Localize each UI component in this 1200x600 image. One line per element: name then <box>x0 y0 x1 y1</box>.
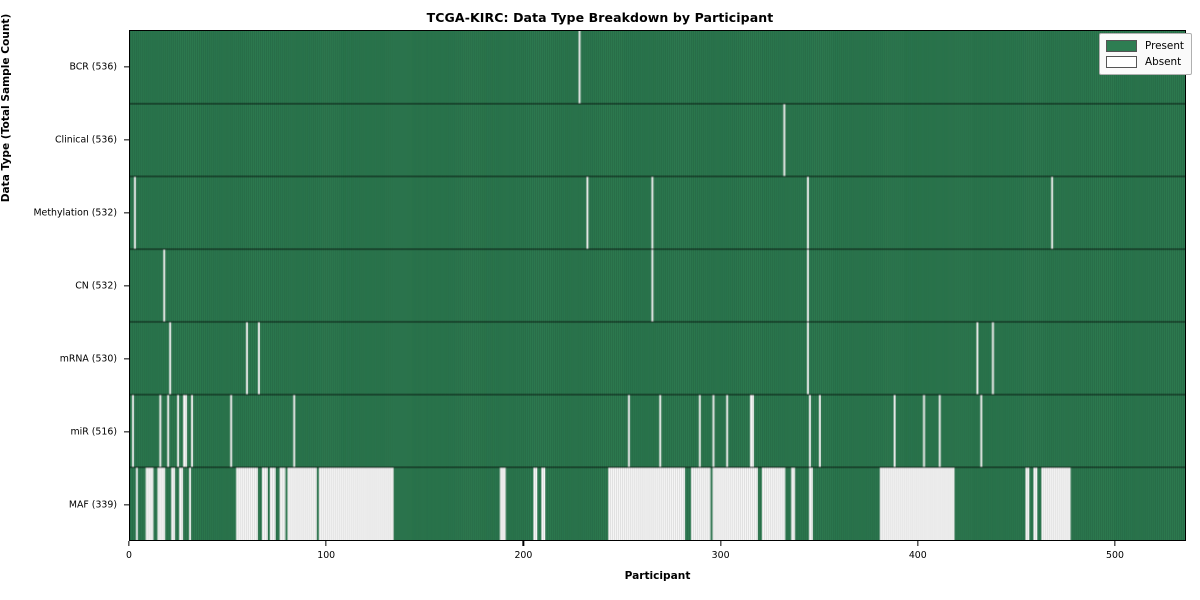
x-tick-label-400: 400 <box>909 550 927 561</box>
x-tick-label-100: 100 <box>317 550 335 561</box>
chart-figure: TCGA-KIRC: Data Type Breakdown by Partic… <box>0 0 1200 600</box>
x-tick-label-0: 0 <box>126 550 132 561</box>
y-tick-label-clinical: Clinical (536) <box>55 134 117 145</box>
legend-label-absent: Absent <box>1145 56 1181 68</box>
y-tick-label-bcr: BCR (536) <box>69 61 117 72</box>
page-title: TCGA-KIRC: Data Type Breakdown by Partic… <box>0 10 1200 25</box>
legend[interactable]: Present Absent <box>1099 33 1192 75</box>
y-tick-label-maf: MAF (339) <box>69 499 117 510</box>
y-tick-label-methylation: Methylation (532) <box>33 207 117 218</box>
x-tick-label-200: 200 <box>514 550 532 561</box>
heatmap-plot-area[interactable] <box>129 30 1186 541</box>
x-tick-mark <box>1114 541 1115 546</box>
legend-swatch-present <box>1106 40 1137 52</box>
x-tick-mark <box>523 541 524 546</box>
heatmap-canvas <box>130 31 1185 540</box>
x-axis-title: Participant <box>129 570 1186 582</box>
legend-label-present: Present <box>1145 40 1184 52</box>
y-tick-label-mrna: mRNA (530) <box>60 353 117 364</box>
x-tick-mark <box>917 541 918 546</box>
x-tick-label-300: 300 <box>712 550 730 561</box>
x-tick-mark <box>720 541 721 546</box>
legend-swatch-absent <box>1106 56 1137 68</box>
y-tick-label-mir: miR (516) <box>71 426 117 437</box>
legend-item-absent[interactable]: Absent <box>1106 54 1184 70</box>
x-axis-tick-labels: 0100200300400500 <box>129 541 1186 571</box>
y-tick-label-cn: CN (532) <box>75 280 117 291</box>
x-tick-mark <box>128 541 129 546</box>
y-axis-tick-labels: BCR (536)Clinical (536)Methylation (532)… <box>0 30 129 541</box>
x-tick-label-500: 500 <box>1106 550 1124 561</box>
x-tick-mark <box>326 541 327 546</box>
legend-item-present[interactable]: Present <box>1106 38 1184 54</box>
